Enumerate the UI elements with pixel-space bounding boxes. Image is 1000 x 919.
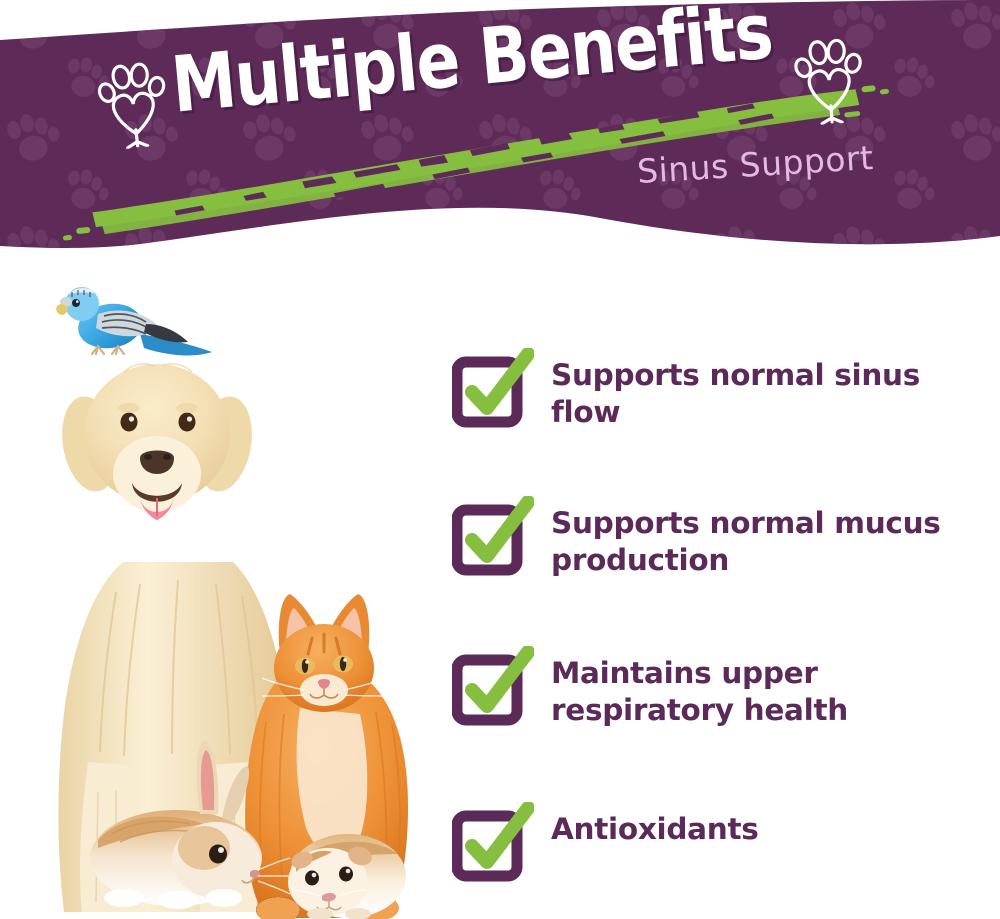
benefit-label: Supports normal sinus flow [551, 357, 992, 431]
benefit-item: Antioxidants [452, 802, 759, 882]
product-benefits-graphic: Multiple Benefits Sinus Support [0, 0, 1000, 919]
checked-checkbox-icon [452, 802, 534, 882]
paw-heart-icon [789, 30, 869, 127]
checked-checkbox-icon [452, 496, 534, 576]
banner: Multiple Benefits Sinus Support [0, 0, 1000, 260]
checked-checkbox-icon [452, 348, 534, 428]
benefit-label: Supports normal mucus production [551, 505, 992, 579]
benefit-label: Antioxidants [551, 811, 759, 848]
checked-checkbox-icon [452, 646, 534, 726]
benefit-item: Supports normal sinus flow [452, 348, 992, 431]
benefit-label: Maintains upper respiratory health [551, 655, 992, 729]
benefit-item: Maintains upper respiratory health [452, 646, 992, 729]
paw-heart-icon [91, 52, 174, 151]
pets-photo [28, 262, 448, 919]
benefit-item: Supports normal mucus production [452, 496, 992, 579]
budgie-parakeet [56, 287, 212, 355]
